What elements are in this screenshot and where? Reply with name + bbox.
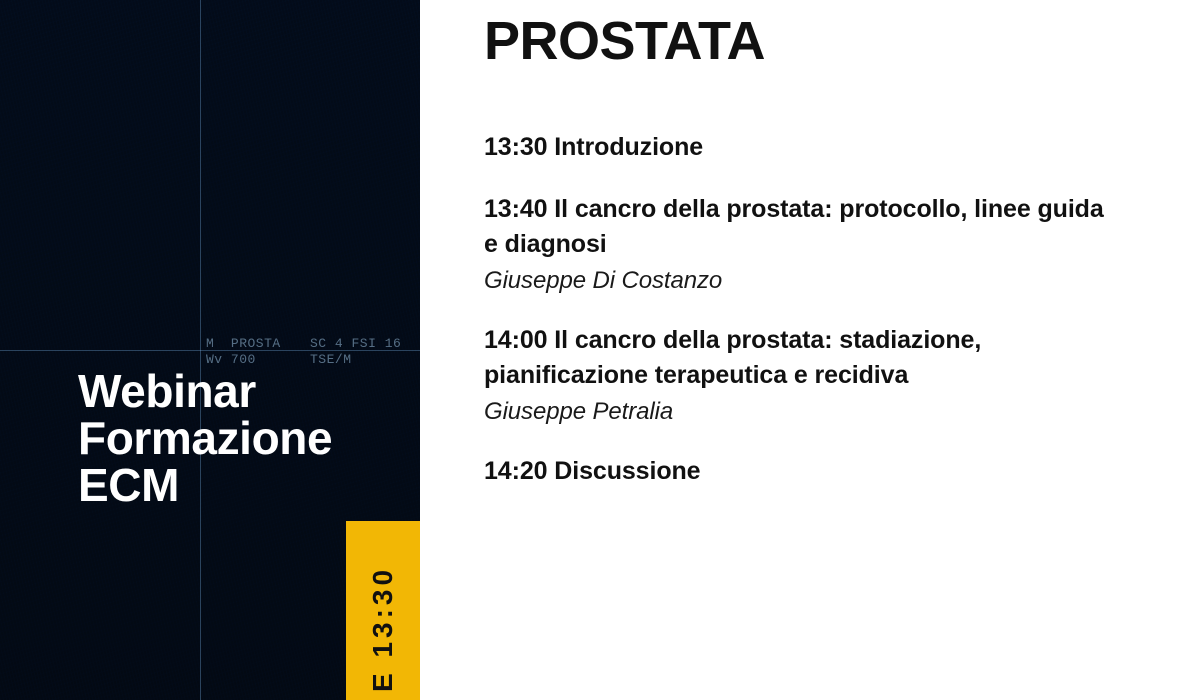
dicom-annotation-right: SC 4 FSI 16 TSE/M <box>310 336 401 369</box>
agenda-item-speaker: Giuseppe Di Costanzo <box>484 265 1124 297</box>
headline-line-2: Formazione <box>78 415 408 462</box>
headline-line-3: ECM <box>78 462 408 509</box>
agenda-item-heading: 14:00 Il cancro della prostata: stadiazi… <box>484 323 1124 394</box>
agenda-item-heading: 13:30 Introduzione <box>484 130 1124 166</box>
dicom-annotation-left: M PROSTA Wv 700 <box>206 336 281 369</box>
page-title: PROSTATA <box>484 14 765 68</box>
time-badge-label: E 13:30 <box>367 566 399 692</box>
agenda-item-speaker: Giuseppe Petralia <box>484 396 1124 428</box>
agenda-item-heading: 14:20 Discussione <box>484 454 1124 490</box>
agenda-item: 14:00 Il cancro della prostata: stadiazi… <box>484 323 1124 428</box>
time-badge: E 13:30 <box>346 521 420 700</box>
agenda-item: 13:30 Introduzione <box>484 130 1124 166</box>
agenda-item: 14:20 Discussione <box>484 454 1124 490</box>
agenda-list: 13:30 Introduzione13:40 Il cancro della … <box>484 130 1124 490</box>
mri-image-panel: M PROSTA Wv 700 SC 4 FSI 16 TSE/M Webina… <box>0 0 420 700</box>
agenda-item-heading: 13:40 Il cancro della prostata: protocol… <box>484 192 1124 263</box>
webinar-slide: M PROSTA Wv 700 SC 4 FSI 16 TSE/M Webina… <box>0 0 1200 700</box>
time-badge-rotation-wrapper: E 13:30 <box>346 521 420 700</box>
media-headline: Webinar Formazione ECM <box>78 368 408 509</box>
agenda-item: 13:40 Il cancro della prostata: protocol… <box>484 192 1124 297</box>
content-panel: PROSTATA 13:30 Introduzione13:40 Il canc… <box>484 0 1174 700</box>
headline-line-1: Webinar <box>78 368 408 415</box>
